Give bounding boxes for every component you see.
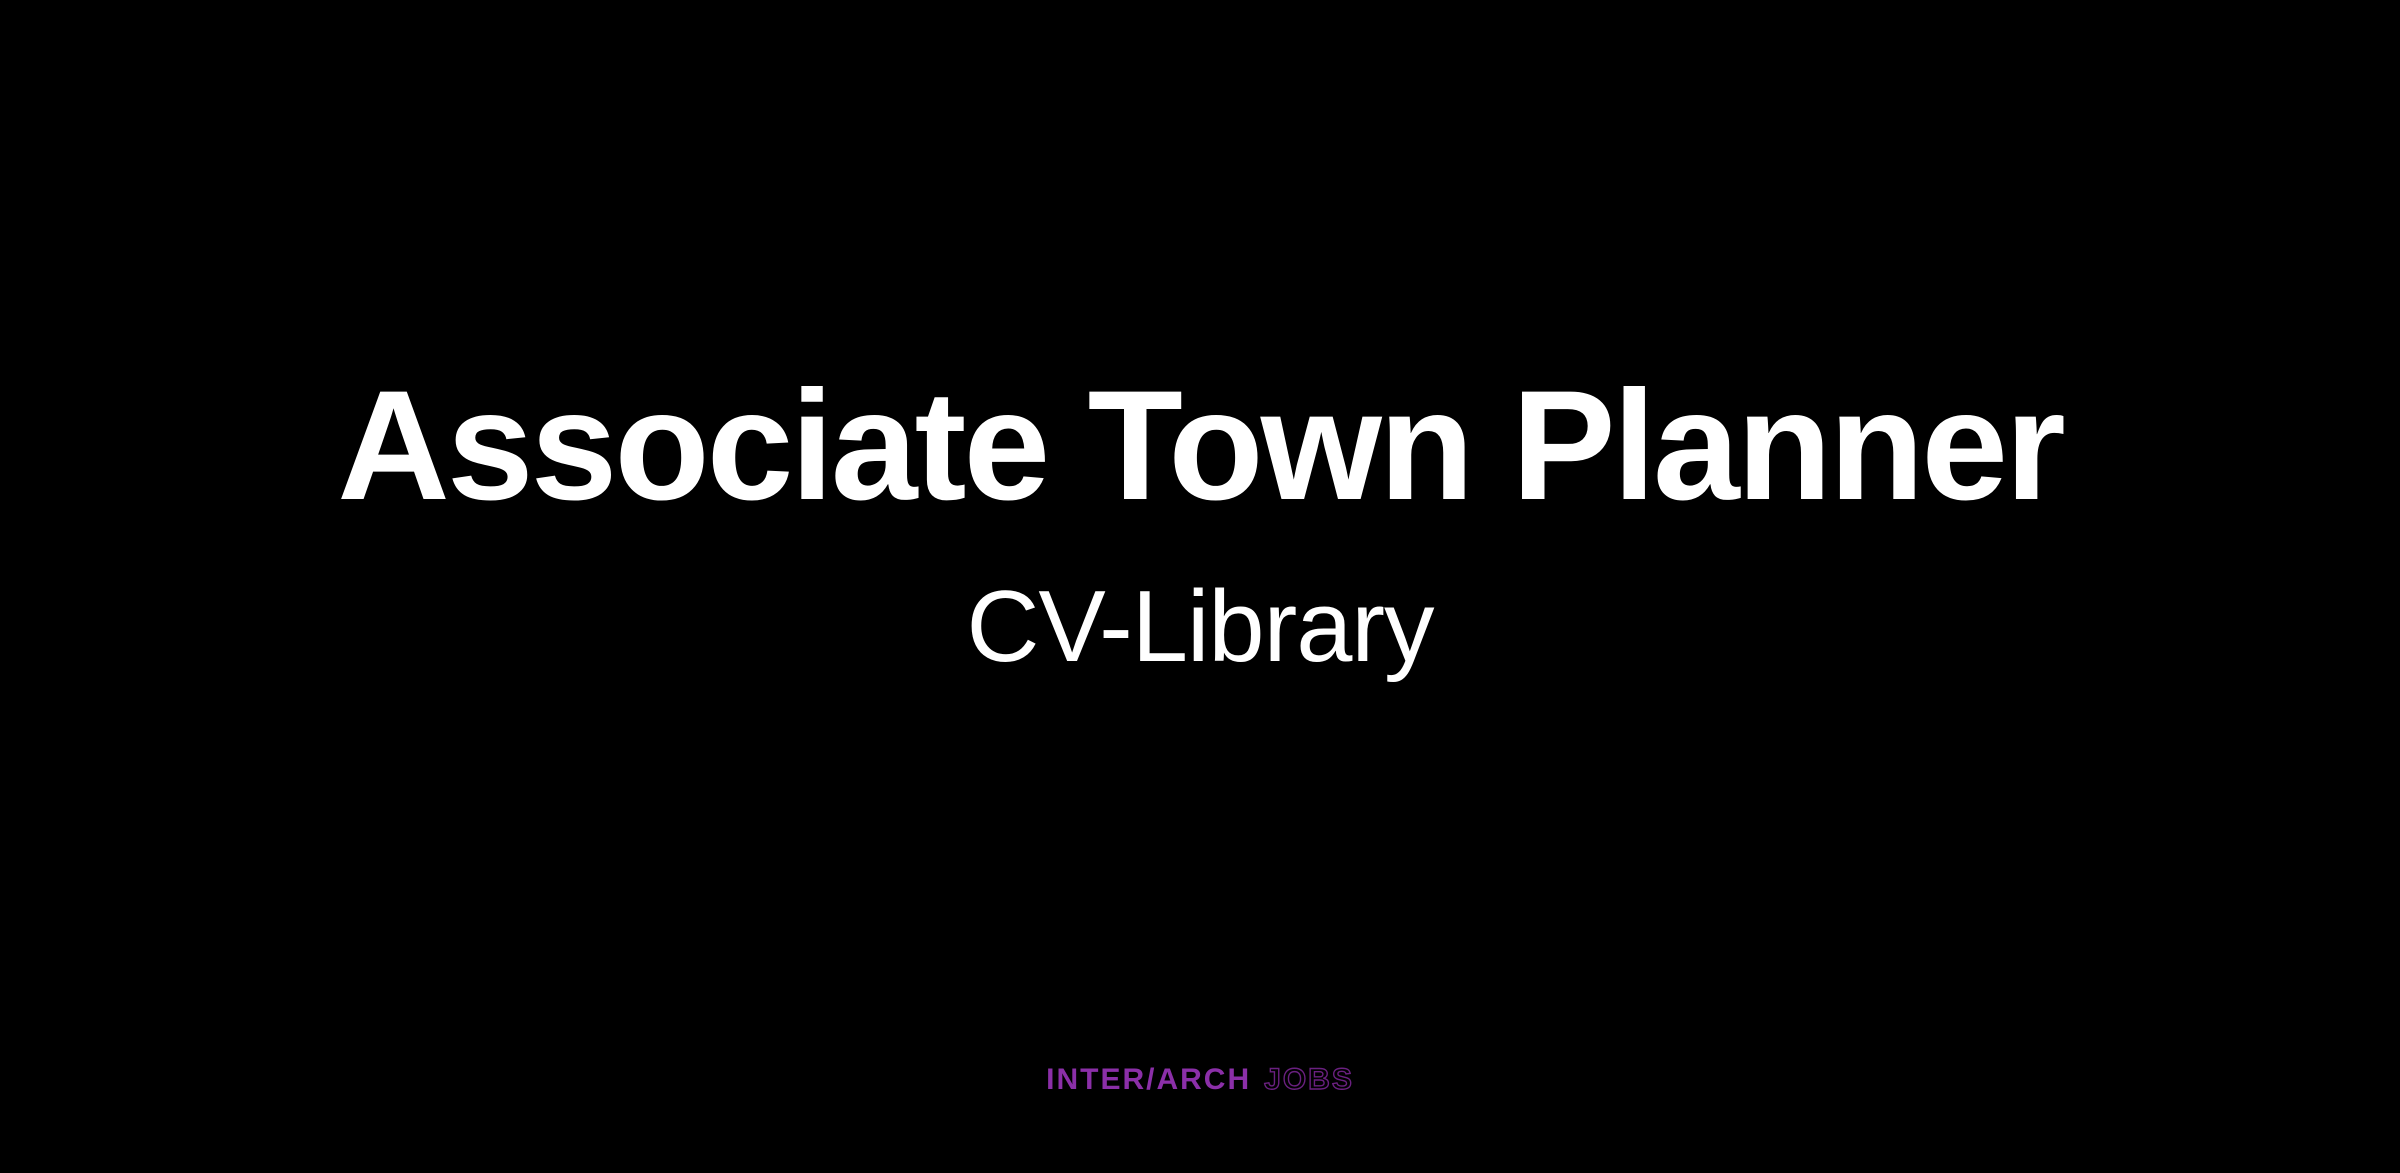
job-posting-card: Associate Town Planner CV-Library INTER/… xyxy=(0,0,2400,1173)
company-name: CV-Library xyxy=(966,577,1433,678)
brand-logo-primary-text: INTER/ARCH xyxy=(1046,1065,1251,1095)
brand-logo-secondary-text: JOBS xyxy=(1264,1065,1354,1095)
brand-logo: INTER/ARCH JOBS xyxy=(0,1065,2400,1095)
hero-section: Associate Town Planner CV-Library xyxy=(0,0,2400,1173)
page-title: Associate Town Planner xyxy=(337,368,2063,524)
